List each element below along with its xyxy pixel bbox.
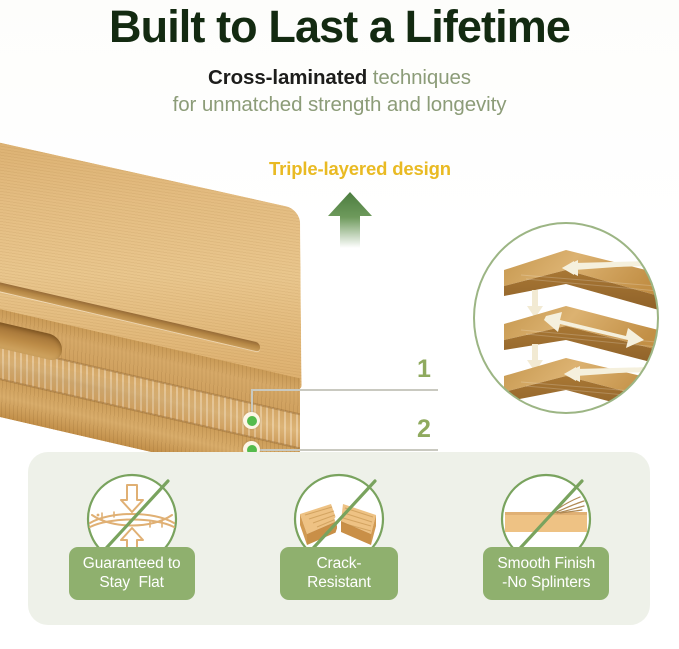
cross-laminated-layers-diagram [466, 220, 666, 416]
subtitle-strong-text: Cross-laminated [208, 66, 367, 89]
header: Built to Last a Lifetime Cross-laminated… [0, 0, 679, 118]
feature-badge-label: Smooth Finish -No Splinters [483, 547, 609, 600]
feature-badge-label: Crack- Resistant [280, 547, 398, 600]
subtitle-second-line: for unmatched strength and longevity [0, 91, 679, 118]
triple-layered-design-label: Triple-layered design [215, 158, 505, 180]
layer-number-1: 1 [417, 355, 431, 384]
subtitle: Cross-laminated techniques for unmatched… [0, 64, 679, 118]
feature-badge-smooth-finish[interactable]: Smooth Finish -No Splinters [459, 469, 634, 600]
middle-section: 1 2 3 Triple-layered design [0, 130, 679, 445]
leader-line-1-horizontal [251, 389, 438, 391]
layer-number-2: 2 [417, 415, 431, 444]
feature-badge-list: Guaranteed to Stay Flat [28, 452, 650, 625]
features-panel: Guaranteed to Stay Flat [28, 452, 650, 625]
product-infographic: Built to Last a Lifetime Cross-laminated… [0, 0, 679, 649]
subtitle-rest-text: techniques [367, 66, 471, 89]
arrow-up-icon [327, 190, 373, 248]
leader-line-2-horizontal [251, 449, 438, 451]
feature-badge-label: Guaranteed to Stay Flat [69, 547, 195, 600]
page-title: Built to Last a Lifetime [0, 0, 679, 52]
feature-badge-stay-flat[interactable]: Guaranteed to Stay Flat [44, 469, 219, 600]
layer-marker-dot-1 [243, 412, 260, 429]
feature-badge-crack-resistant[interactable]: Crack- Resistant [251, 469, 426, 600]
